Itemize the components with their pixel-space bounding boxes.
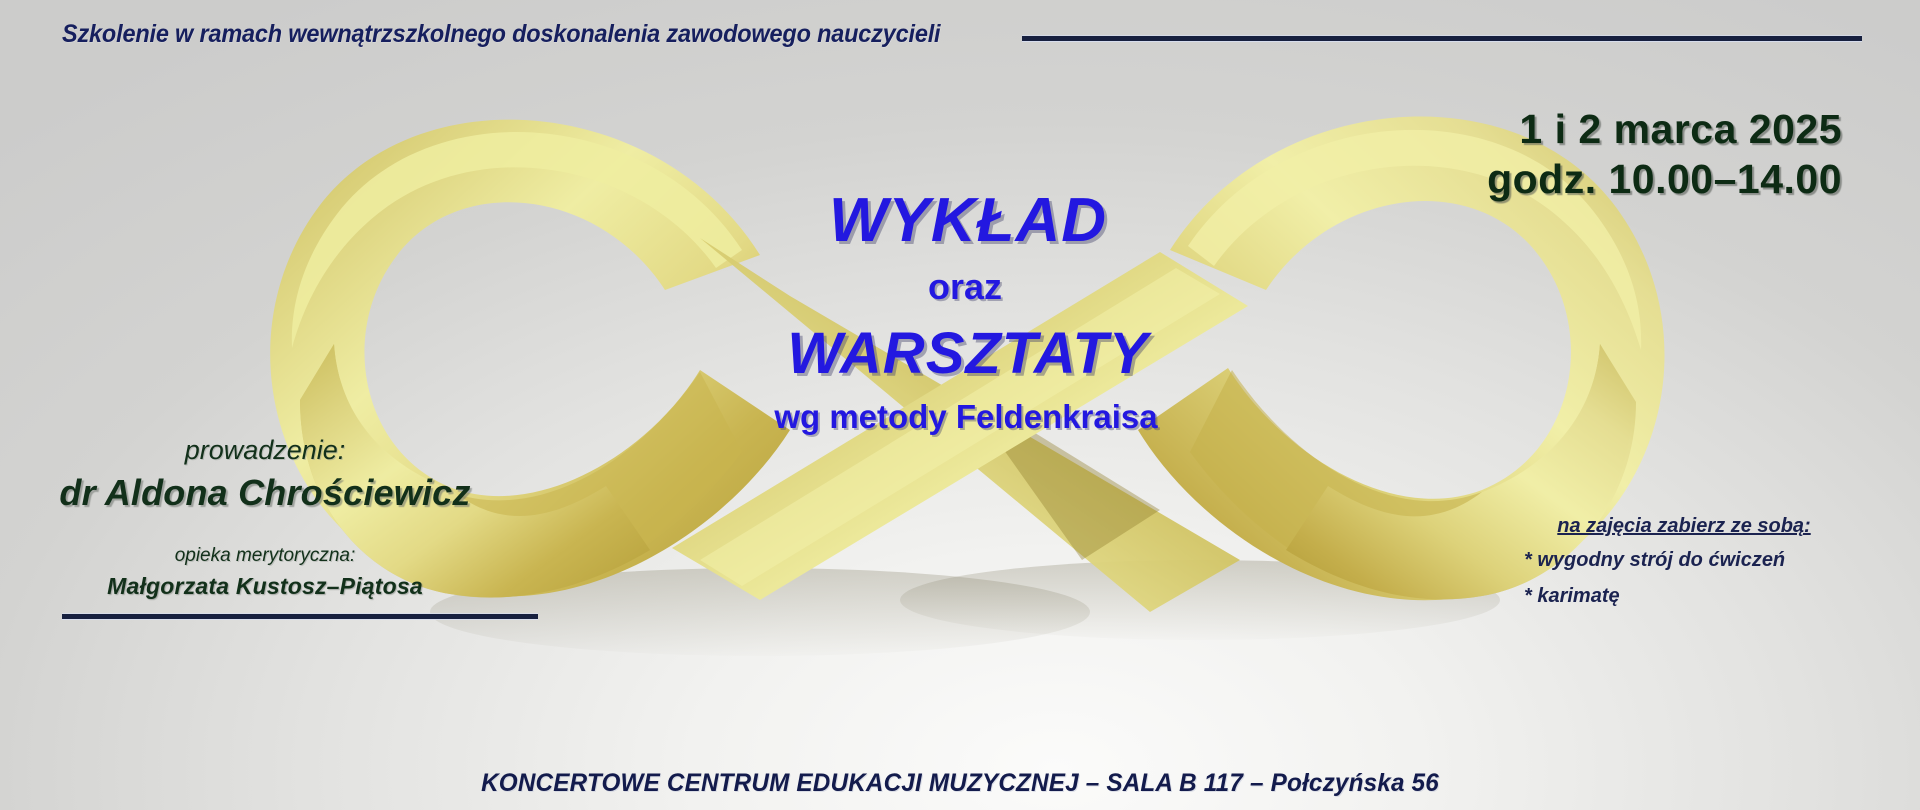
footer-rule-divider bbox=[62, 614, 538, 619]
event-date-block: 1 i 2 marca 2025 godz. 10.00–14.00 bbox=[1487, 104, 1842, 204]
bring-with-you-block: na zajęcia zabierz ze sobą: * wygodny st… bbox=[1524, 510, 1844, 614]
presenter-name: dr Aldona Chrościewicz bbox=[50, 468, 480, 518]
event-date-line: 1 i 2 marca 2025 bbox=[1487, 104, 1842, 154]
supervisor-block: opieka merytoryczna: Małgorzata Kustosz–… bbox=[50, 542, 480, 602]
event-time-line: godz. 10.00–14.00 bbox=[1487, 154, 1842, 204]
bring-item: * wygodny strój do ćwiczeń bbox=[1524, 542, 1844, 578]
center-title-block: WYKŁAD oraz WARSZTATY wg metody Feldenkr… bbox=[0, 186, 1920, 444]
header-rule-divider bbox=[1022, 36, 1862, 41]
bring-item: * karimatę bbox=[1524, 578, 1844, 614]
venue-footer: KONCERTOWE CENTRUM EDUKACJI MUZYCZNEJ – … bbox=[29, 769, 1891, 798]
infinity-left-lobe bbox=[270, 120, 790, 598]
supervisor-name: Małgorzata Kustosz–Piątosa bbox=[50, 570, 480, 602]
title-workshops: WARSZTATY bbox=[16, 318, 1920, 390]
bring-with-you-title: na zajęcia zabierz ze sobą: bbox=[1524, 510, 1844, 542]
presenter-label: prowadzenie: bbox=[50, 432, 480, 468]
infinity-crossing bbox=[672, 238, 1248, 612]
poster-canvas: Szkolenie w ramach wewnątrzszkolnego dos… bbox=[0, 0, 1920, 810]
presenter-block: prowadzenie: dr Aldona Chrościewicz bbox=[50, 432, 480, 518]
page-header-text: Szkolenie w ramach wewnątrzszkolnego dos… bbox=[62, 20, 940, 49]
supervisor-label: opieka merytoryczna: bbox=[50, 542, 480, 570]
title-conjunction: oraz bbox=[10, 256, 1920, 318]
